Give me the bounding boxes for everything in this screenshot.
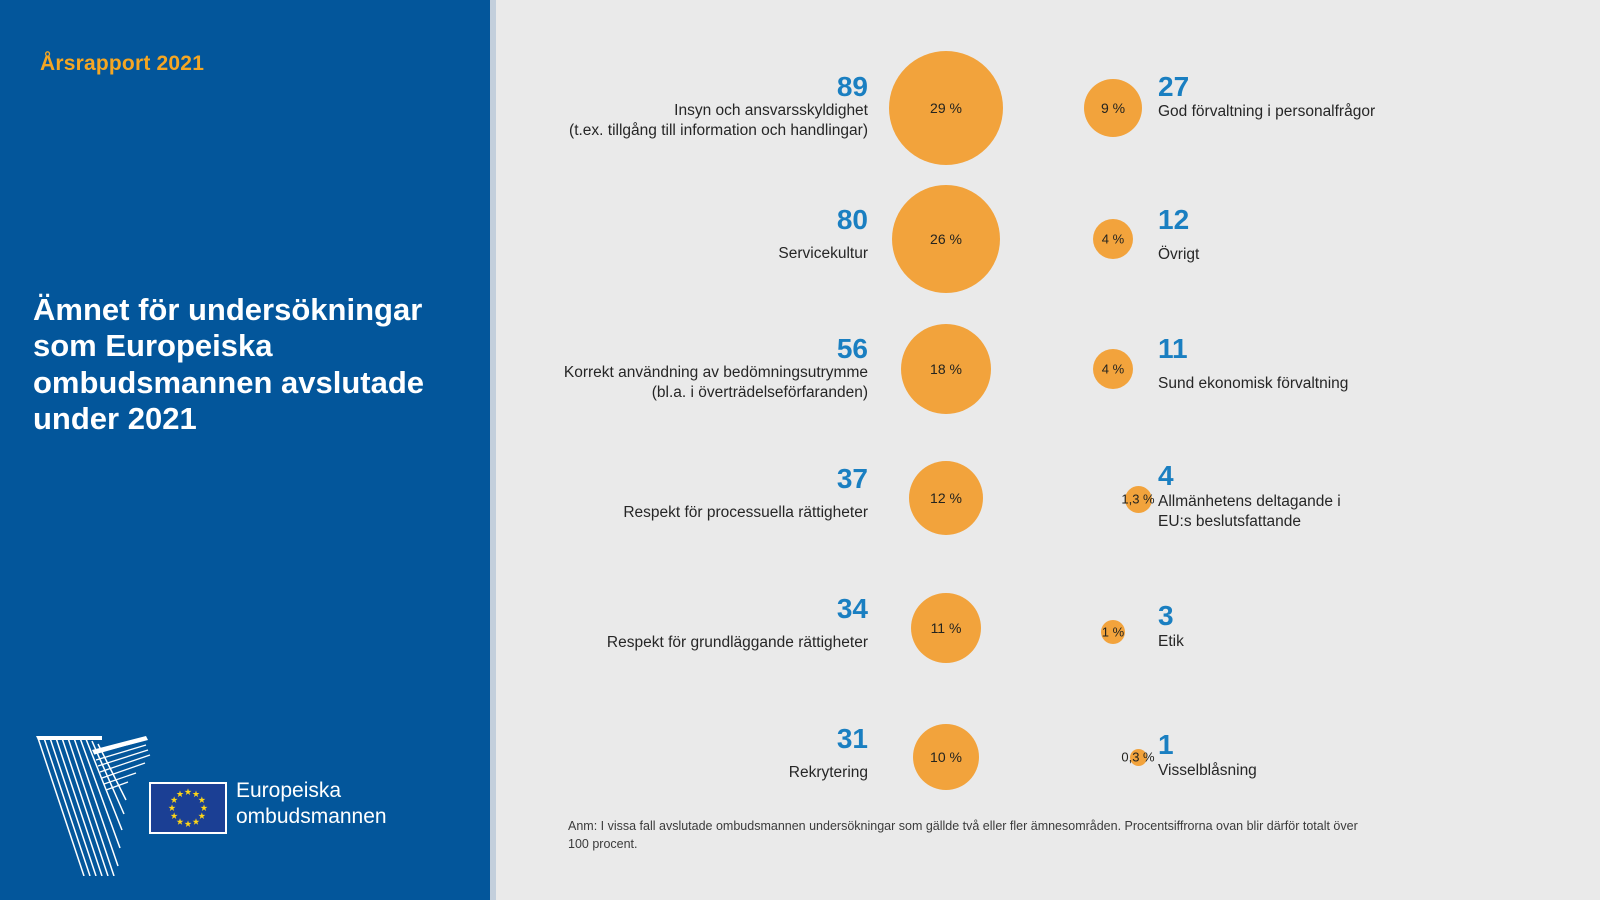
count-right-2: 12 [1158,206,1189,234]
chart-footnote: Anm: I vissa fall avslutade ombudsmannen… [568,818,1358,854]
category-right-3-line1: Sund ekonomisk förvaltning [1158,374,1578,394]
category-left-1-line2: (t.ex. tillgång till information och han… [496,121,868,141]
category-right-3: Sund ekonomisk förvaltning [1158,374,1578,394]
bubble-right-1-percent: 9 % [1101,100,1125,116]
bubble-right-3-percent: 4 % [1102,362,1124,377]
logo-wordmark-line2: ombudsmannen [236,804,387,830]
category-left-3-line1: Korrekt användning av bedömningsutrymme [496,363,868,383]
eu-flag-icon [149,782,227,834]
category-left-3: Korrekt användning av bedömningsutrymme … [496,363,868,403]
category-left-1: Insyn och ansvarsskyldighet (t.ex. tillg… [496,101,868,141]
european-ombudsman-wing-icon [32,726,162,876]
bubble-right-2-percent: 4 % [1102,232,1124,247]
category-left-6-line1: Rekrytering [496,763,868,783]
count-right-4: 4 [1158,462,1174,490]
count-right-3: 11 [1158,335,1188,363]
bubble-right-6-percent: 0,3 % [1121,750,1154,765]
category-right-4: Allmänhetens deltagande i EU:s beslutsfa… [1158,492,1578,532]
count-left-2: 80 [496,206,868,234]
category-left-2: Servicekultur [496,244,868,264]
count-left-4: 37 [496,465,868,493]
count-left-5: 34 [496,595,868,623]
bubble-left-6-percent: 10 % [930,749,962,765]
category-right-4-line1: Allmänhetens deltagande i [1158,492,1578,512]
logo-wordmark-line1: Europeiska [236,778,387,804]
count-right-5: 3 [1158,602,1174,630]
category-right-1-line1: God förvaltning i personalfrågor [1158,102,1578,122]
category-left-2-line1: Servicekultur [496,244,868,264]
category-left-5: Respekt för grundläggande rättigheter [496,633,868,653]
category-right-2: Övrigt [1158,245,1578,265]
bubble-left-1-percent: 29 % [930,100,962,116]
category-right-5-line1: Etik [1158,632,1578,652]
count-right-6: 1 [1158,731,1174,759]
category-left-3-line2: (bl.a. i överträdelseförfaranden) [496,383,868,403]
left-title-panel: Årsrapport 2021 Ämnet för undersökningar… [0,0,490,900]
bubble-right-4-percent: 1,3 % [1121,492,1154,507]
count-right-1: 27 [1158,73,1189,101]
logo: Europeiska ombudsmannen [32,726,412,876]
bubble-left-4-percent: 12 % [930,490,962,506]
category-left-4: Respekt för processuella rättigheter [496,503,868,523]
count-left-6: 31 [496,725,868,753]
bubble-left-2-percent: 26 % [930,231,962,247]
category-right-2-line1: Övrigt [1158,245,1578,265]
infographic-page: Årsrapport 2021 Ämnet för undersökningar… [0,0,1600,900]
logo-wordmark: Europeiska ombudsmannen [236,778,387,830]
report-kicker: Årsrapport 2021 [40,52,204,76]
count-left-1: 89 [496,73,868,101]
bubble-chart: 29 % 89 Insyn och ansvarsskyldighet (t.e… [496,0,1600,900]
category-left-5-line1: Respekt för grundläggande rättigheter [496,633,868,653]
category-left-6: Rekrytering [496,763,868,783]
bubble-left-5-percent: 11 % [931,620,962,636]
category-right-6: Visselblåsning [1158,761,1578,781]
count-left-3: 56 [496,335,868,363]
bubble-right-5-percent: 1 % [1102,625,1124,640]
bubble-left-3-percent: 18 % [930,361,962,377]
page-title: Ämnet för undersökningar som Europeiska … [33,292,463,437]
category-left-1-line1: Insyn och ansvarsskyldighet [496,101,868,121]
category-right-1: God förvaltning i personalfrågor [1158,102,1578,122]
category-right-5: Etik [1158,632,1578,652]
category-right-4-line2: EU:s beslutsfattande [1158,512,1578,532]
category-left-4-line1: Respekt för processuella rättigheter [496,503,868,523]
category-right-6-line1: Visselblåsning [1158,761,1578,781]
